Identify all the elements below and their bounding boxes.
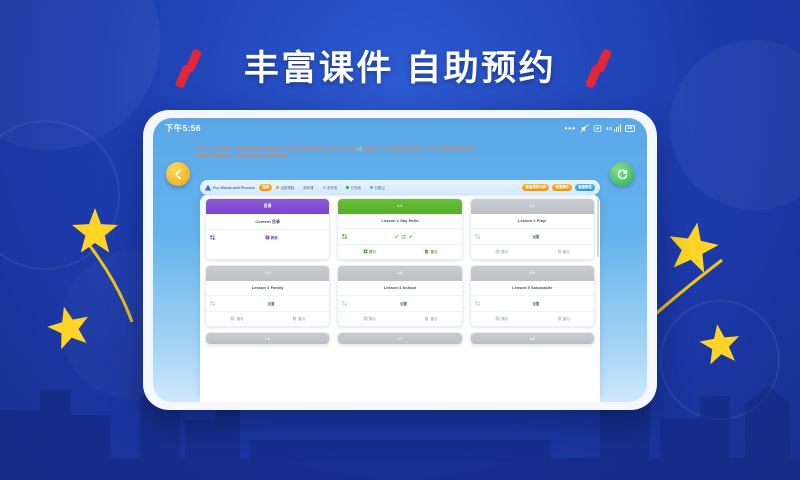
card-actions: 设置 xyxy=(338,295,461,311)
notice-line1-end: 设置机会。若当时设置当前课件，请在上课前提醒老师切换， xyxy=(363,146,479,151)
legend-label: 当前课程 xyxy=(281,185,295,190)
card-badge: L7 xyxy=(338,333,461,344)
promo-headline: 丰富课件 自助预约 xyxy=(0,44,800,98)
lesson-card[interactable]: 目录 Content 目录 xyxy=(205,198,330,260)
lesson-card[interactable]: L6 xyxy=(205,332,330,345)
grid-icon xyxy=(342,234,347,239)
settings-button[interactable]: 设置 xyxy=(532,234,539,239)
legend-item-complete: 已完成 xyxy=(346,185,361,190)
grid-icon xyxy=(475,301,480,306)
refresh-icon xyxy=(616,168,629,181)
completed-check-button[interactable] xyxy=(394,234,399,239)
tablet-device: 下午5:56 ••• 4G xyxy=(143,110,657,410)
action-label: 预习 xyxy=(501,316,508,321)
legend-label: 已完成 xyxy=(351,185,361,190)
signal-icon: 4G xyxy=(606,124,621,132)
slash-decoration-left xyxy=(173,48,217,90)
review-icon xyxy=(557,316,562,321)
preview-icon xyxy=(495,316,500,321)
card-actions: 设置 xyxy=(471,228,594,244)
refresh-icon xyxy=(401,234,406,239)
card-title: Lesson 5 Sandcastle xyxy=(471,281,594,296)
review-icon xyxy=(424,249,429,254)
lesson-toolbar: Fun Words with Phonics 当前 当前课程 · 测评课 · 未… xyxy=(200,180,600,195)
review-icon xyxy=(292,316,297,321)
battery-icon: 88 xyxy=(625,125,635,132)
grid-icon-button[interactable] xyxy=(342,301,347,306)
grid-icon-button[interactable] xyxy=(342,234,347,239)
legend-label: 测评课 xyxy=(303,185,313,190)
screenshot-icon xyxy=(593,124,602,133)
review-button[interactable]: 复习 xyxy=(424,316,437,321)
legend-label: 已跳过 xyxy=(375,185,385,190)
action-label: 预习 xyxy=(369,249,376,254)
card-badge: L1 xyxy=(338,199,461,214)
book-icon xyxy=(265,235,270,240)
star-decoration xyxy=(72,208,118,254)
action-label: 复习 xyxy=(563,316,570,321)
lesson-card[interactable]: L2 Lesson 2 Play! 设置 xyxy=(470,198,595,260)
legend-item-incomplete: 未完成 xyxy=(323,185,338,190)
star-decoration xyxy=(697,321,742,366)
legend-separator: · xyxy=(341,186,342,190)
action-label: 复习 xyxy=(431,249,438,254)
card-footer: 预习 复习 xyxy=(471,311,594,327)
review-button[interactable]: 复习 xyxy=(424,249,437,254)
grid-icon-button[interactable] xyxy=(210,301,215,306)
grid-icon xyxy=(210,235,215,240)
set-courseware-button[interactable]: 设置课件 xyxy=(552,184,572,191)
slash-decoration-right xyxy=(583,48,627,90)
brand-logo: Fun Words with Phonics xyxy=(205,185,255,191)
legend-separator: · xyxy=(365,186,366,190)
lesson-card[interactable]: L1 Lesson 1 Say Hello xyxy=(337,198,462,260)
review-icon xyxy=(424,316,429,321)
card-title: Lesson 3 Family xyxy=(206,281,329,296)
card-actions: 教案 xyxy=(206,229,329,245)
preview-icon xyxy=(363,249,368,254)
legend-separator: · xyxy=(298,186,299,190)
action-label: 设置 xyxy=(532,301,539,306)
grid-icon xyxy=(342,301,347,306)
preview-button[interactable]: 预习 xyxy=(230,316,243,321)
card-actions: 设置 xyxy=(471,295,594,311)
review-button[interactable]: 复习 xyxy=(557,249,570,254)
action-label: 预习 xyxy=(237,316,244,321)
action-label: 教案 xyxy=(271,235,278,240)
grid-icon-button[interactable] xyxy=(475,301,480,306)
grid-icon-button[interactable] xyxy=(475,234,480,239)
card-badge: L3 xyxy=(206,266,329,281)
lesson-grid: 目录 Content 目录 xyxy=(205,198,595,402)
lesson-card[interactable]: L3 Lesson 3 Family 设置 xyxy=(205,265,330,327)
lesson-card[interactable]: L8 xyxy=(470,332,595,345)
action-label: 设置 xyxy=(400,301,407,306)
card-footer: 预习 复习 xyxy=(206,311,329,327)
card-badge: L6 xyxy=(206,333,329,344)
card-title: Lesson 2 Play! xyxy=(471,214,594,229)
brand-name: Fun Words with Phonics xyxy=(213,186,255,190)
action-label: 复习 xyxy=(431,316,438,321)
arrow-left-icon xyxy=(172,168,185,181)
legend-label: 未完成 xyxy=(327,185,337,190)
tablet-screen: 下午5:56 ••• 4G xyxy=(153,118,647,402)
legend-item-assessment: 测评课 xyxy=(303,185,313,190)
card-footer: 预习 复习 xyxy=(471,244,594,260)
status-time: 下午5:56 xyxy=(165,122,201,134)
preview-button[interactable]: 预习 xyxy=(495,316,508,321)
card-footer: 预习 复习 xyxy=(338,311,461,327)
card-title: Lesson 1 Say Hello xyxy=(338,214,461,229)
lesson-card[interactable]: L7 xyxy=(337,332,462,345)
card-badge: L4 xyxy=(338,266,461,281)
card-badge: L2 xyxy=(471,199,594,214)
preview-icon xyxy=(495,249,500,254)
status-dots: ••• xyxy=(564,124,575,133)
card-actions xyxy=(338,228,461,244)
grid-icon-button[interactable] xyxy=(210,235,215,240)
action-label: 复习 xyxy=(298,316,305,321)
preview-button[interactable]: 预习 xyxy=(363,249,376,254)
settings-button[interactable]: 设置 xyxy=(532,301,539,306)
mute-icon xyxy=(580,124,589,133)
preview-icon xyxy=(230,316,235,321)
star-decoration xyxy=(664,218,722,276)
card-title: Content 目录 xyxy=(206,214,329,229)
legend-item-skipped: 已跳过 xyxy=(370,185,385,190)
view-tutorial-button[interactable]: 查看教程 xyxy=(575,184,595,191)
lesson-panel: 目录 Content 目录 xyxy=(200,194,600,402)
notice-text: 注意：点击“设置”，可设置该课件为当前课件，老师会根据当前课件上课。(每天仅有1… xyxy=(197,146,603,160)
pencil-icon xyxy=(408,234,413,239)
headline-text: 丰富课件 自助预约 xyxy=(244,44,556,94)
edit-button[interactable] xyxy=(408,234,413,239)
review-button[interactable]: 复习 xyxy=(557,316,570,321)
check-icon xyxy=(394,234,399,239)
view-outline-button[interactable]: 查看课件大纲 xyxy=(522,184,549,191)
lesson-card[interactable]: L4 Lesson 4 School 设置 xyxy=(337,265,462,327)
lesson-card[interactable]: L5 Lesson 5 Sandcastle 设置 xyxy=(470,265,595,327)
action-label: 复习 xyxy=(563,249,570,254)
action-label: 预习 xyxy=(369,316,376,321)
current-course-chip[interactable]: 当前 xyxy=(259,184,272,191)
notice-highlight: 1次 xyxy=(356,146,363,151)
card-actions: 设置 xyxy=(206,295,329,311)
card-badge: L8 xyxy=(471,333,594,344)
card-badge: 目录 xyxy=(206,199,329,214)
review-button[interactable]: 复习 xyxy=(292,316,305,321)
legend-item-current: 当前课程 xyxy=(276,185,294,190)
card-badge: L5 xyxy=(471,266,594,281)
panel-scrollbar[interactable] xyxy=(597,199,599,257)
preview-button[interactable]: 预习 xyxy=(363,316,376,321)
preview-icon xyxy=(363,316,368,321)
card-footer: 预习 复习 xyxy=(338,244,461,260)
action-label: 预习 xyxy=(501,249,508,254)
reload-button[interactable] xyxy=(610,162,634,186)
review-icon xyxy=(557,249,562,254)
card-title: Lesson 4 School xyxy=(338,281,461,296)
back-button[interactable] xyxy=(166,162,190,186)
status-bar: 下午5:56 ••• 4G xyxy=(153,118,647,138)
notice-line1: 注意：点击“设置”，可设置该课件为当前课件，老师会根据当前课件上课。(每天仅有 xyxy=(197,146,356,151)
lesson-plan-button[interactable]: 教案 xyxy=(265,235,278,240)
action-label: 设置 xyxy=(532,234,539,239)
grid-icon xyxy=(210,301,215,306)
notice-line2: 重新进入课程页面，以免老师未同步更新到课件) xyxy=(197,153,289,158)
settings-button[interactable]: 设置 xyxy=(268,301,275,306)
preview-button[interactable]: 预习 xyxy=(495,249,508,254)
grid-icon xyxy=(475,234,480,239)
redo-button[interactable] xyxy=(401,234,406,239)
legend-separator: · xyxy=(317,186,318,190)
brand-mark-icon xyxy=(205,185,211,191)
settings-button[interactable]: 设置 xyxy=(400,301,407,306)
action-label: 设置 xyxy=(268,301,275,306)
